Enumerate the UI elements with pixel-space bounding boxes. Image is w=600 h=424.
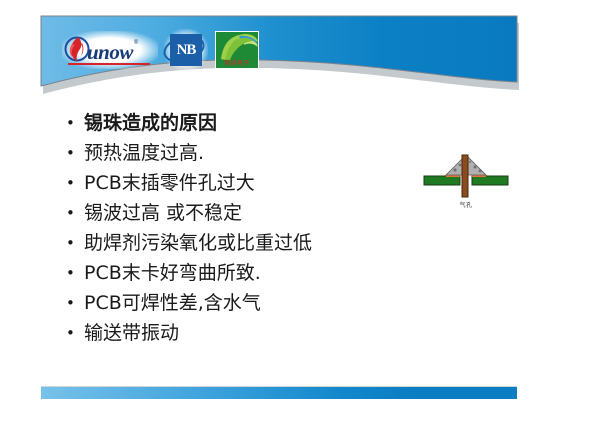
- pcb-right: [472, 176, 508, 185]
- list-item-label: PCB末卡好弯曲所致.: [84, 258, 261, 288]
- list-item: • PCB可焊性差,含水气: [66, 288, 396, 318]
- void: [459, 164, 462, 167]
- green-electronics-logo: 美城电子: [214, 30, 260, 70]
- list-item: • 输送带振动: [66, 318, 396, 348]
- bullet-icon: •: [66, 108, 84, 138]
- figure-caption: 气孔: [418, 202, 514, 210]
- void: [469, 161, 471, 163]
- nb-box: NB: [170, 34, 202, 66]
- component-lead: [462, 155, 468, 197]
- list-item-label: 助焊剂污染氧化或比重过低: [84, 228, 312, 258]
- list-item: • 助焊剂污染氧化或比重过低: [66, 228, 396, 258]
- nb-logo: NB: [166, 31, 206, 69]
- unow-wordmark: unow: [87, 42, 133, 63]
- bullet-icon: •: [66, 228, 84, 258]
- footer-bar: [41, 386, 517, 399]
- list-item-label: 预热温度过高.: [84, 138, 204, 168]
- unow-underline: [68, 63, 150, 65]
- void: [479, 170, 482, 173]
- pcb-left: [424, 176, 460, 185]
- slide: unow ® NB: [0, 0, 600, 424]
- green-logo-chinese-text: 美城电子: [216, 60, 258, 67]
- bullet-icon: •: [66, 288, 84, 318]
- list-item-label: 锡波过高 或不稳定: [84, 198, 242, 228]
- void: [474, 166, 477, 169]
- list-item: • 锡波过高 或不稳定: [66, 198, 396, 228]
- list-item: • PCB末插零件孔过大: [66, 168, 396, 198]
- unow-logo: unow ®: [62, 31, 158, 69]
- logo-row: unow ® NB: [62, 28, 260, 72]
- void: [453, 168, 456, 171]
- blowhole-solder-joint-diagram: 气孔: [418, 150, 514, 220]
- registered-mark-icon: ®: [134, 40, 138, 46]
- list-item: • PCB末卡好弯曲所致.: [66, 258, 396, 288]
- list-item-label: PCB可焊性差,含水气: [84, 288, 261, 318]
- bullet-icon: •: [66, 138, 84, 168]
- list-item-label: PCB末插零件孔过大: [84, 168, 255, 198]
- bullet-icon: •: [66, 198, 84, 228]
- swoosh-icon: [219, 33, 259, 61]
- list-item-label: 锡珠造成的原因: [84, 108, 217, 138]
- green-logo-box: 美城电子: [215, 31, 259, 69]
- bullet-icon: •: [66, 318, 84, 348]
- bullet-icon: •: [66, 258, 84, 288]
- bullet-icon: •: [66, 168, 84, 198]
- list-item-label: 输送带振动: [84, 318, 179, 348]
- list-item: • 锡珠造成的原因: [66, 108, 396, 138]
- nb-wordmark: NB: [177, 42, 196, 59]
- bullet-list: • 锡珠造成的原因 • 预热温度过高. • PCB末插零件孔过大 • 锡波过高 …: [66, 108, 396, 348]
- list-item: • 预热温度过高.: [66, 138, 396, 168]
